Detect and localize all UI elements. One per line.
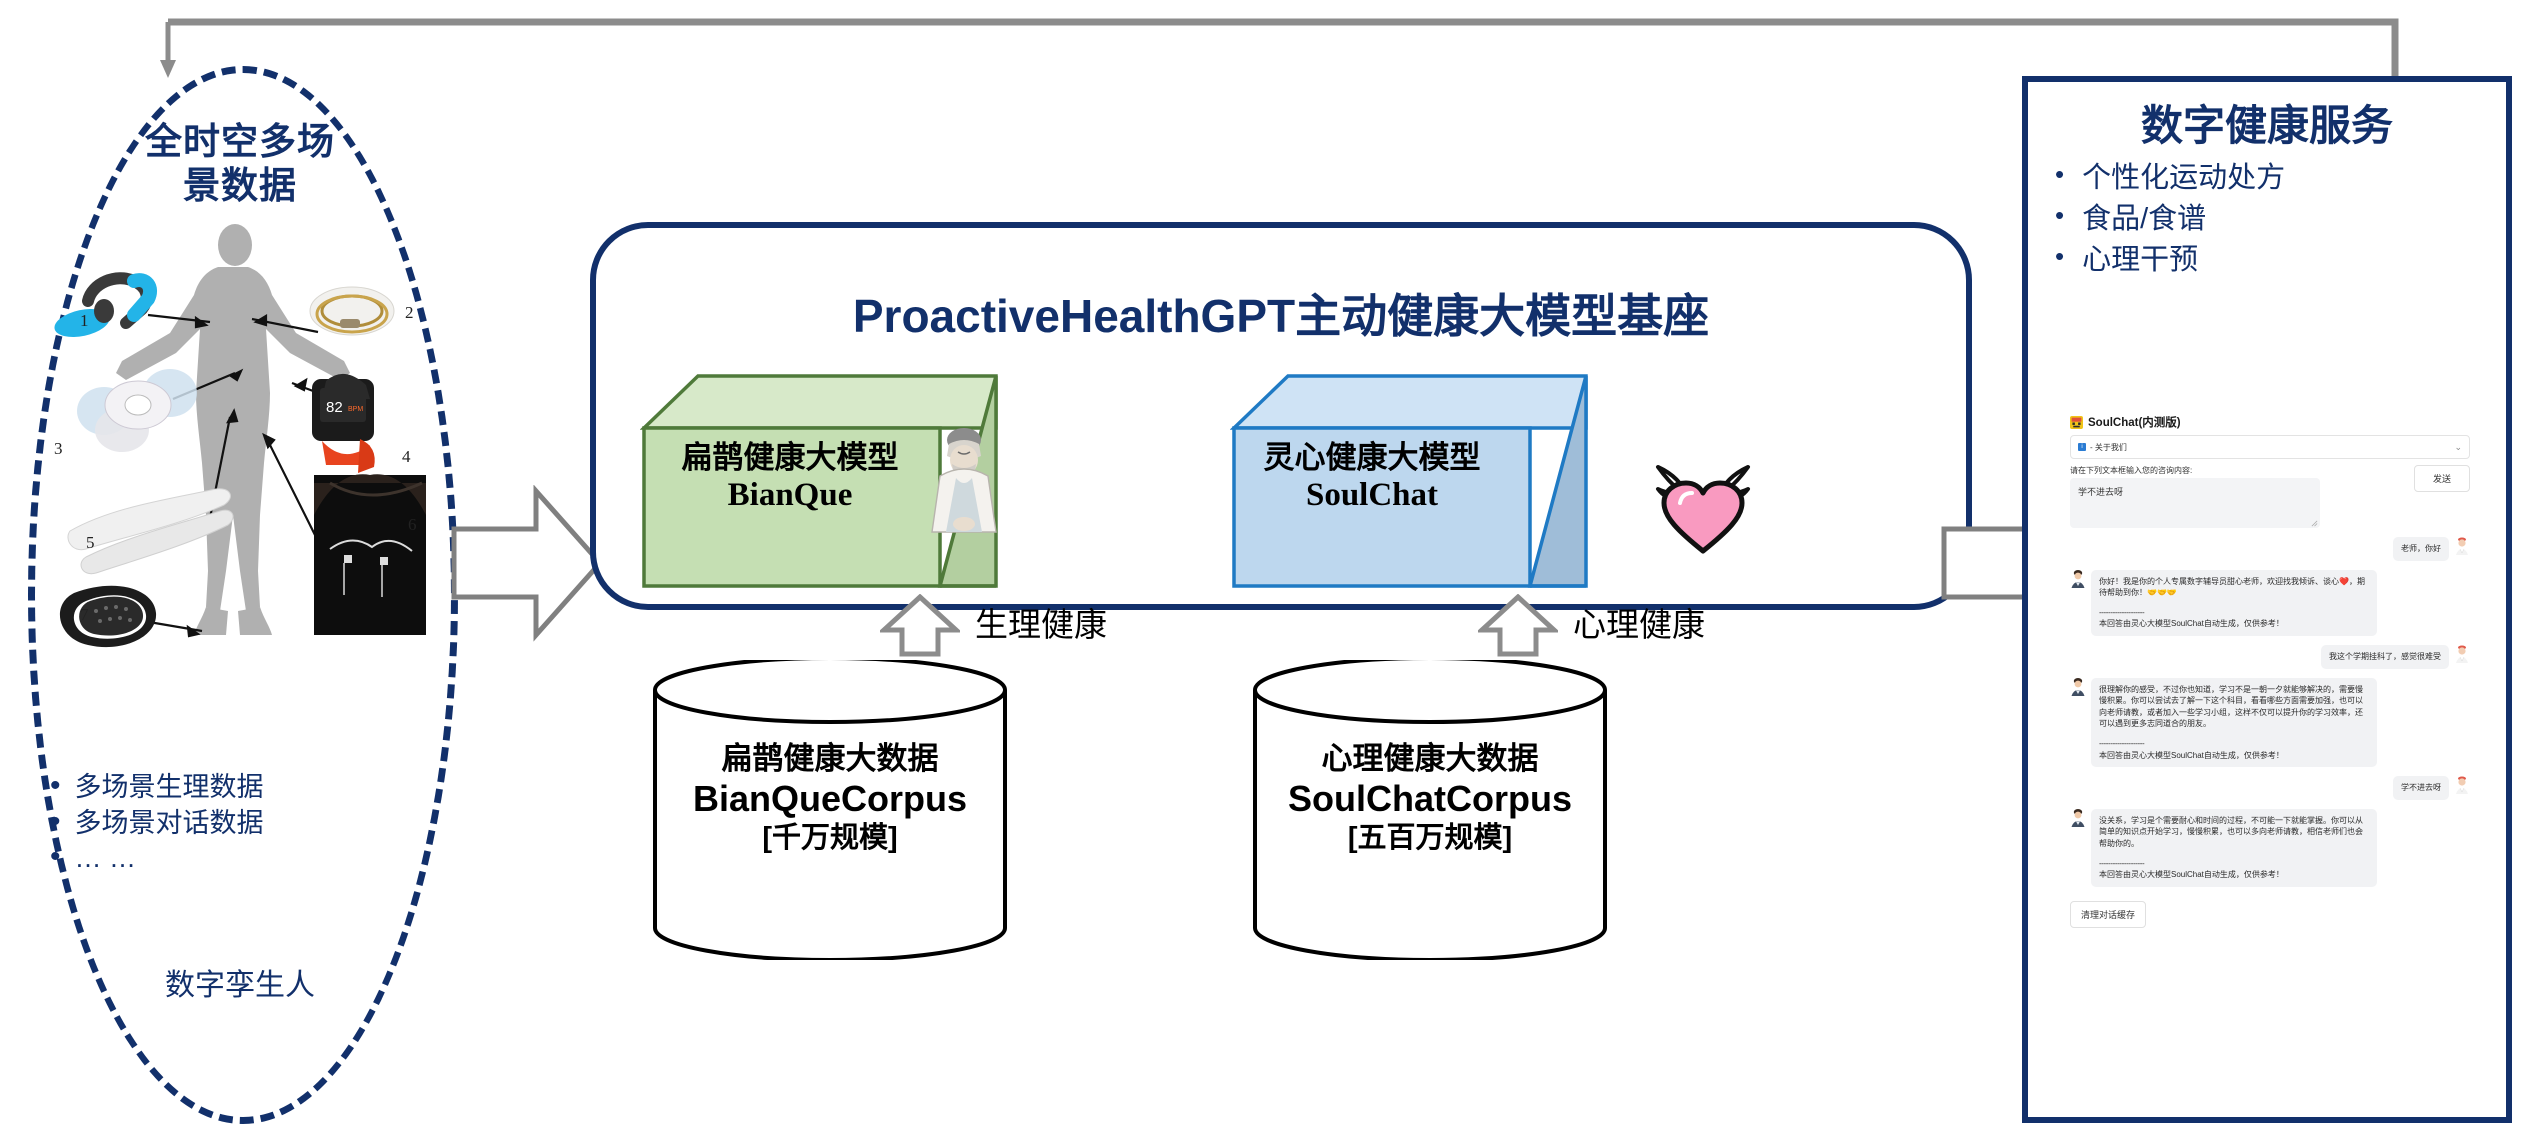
user-avatar-icon: [2454, 645, 2470, 663]
chat-bubble-text: 没关系，学习是个需要耐心和时间的过程，不可能一下就能掌握。你可以从简单的知识点开…: [2099, 815, 2369, 850]
left-title-line2: 景数据: [40, 164, 440, 208]
counselor-avatar-icon: [2070, 809, 2086, 827]
chat-bubble-note: 本回答由灵心大模型SoulChat自动生成，仅供参考！: [2099, 618, 2369, 630]
physiological-health-label: 生理健康: [975, 598, 1107, 646]
bianque-corpus-line2: BianQueCorpus: [650, 777, 1010, 820]
chat-prompt-label: 请在下列文本框输入您的咨询内容:: [2070, 465, 2320, 476]
bullet-dot: •: [2055, 240, 2064, 273]
chat-input-textarea[interactable]: 学不进去呀: [2070, 478, 2320, 528]
list-item: •… …: [50, 841, 440, 877]
right-bullet-2: 心理干预: [2082, 240, 2198, 281]
mental-health-label: 心理健康: [1573, 598, 1705, 646]
select-value: - 关于我们: [2090, 442, 2127, 453]
device-number-6: 6: [408, 515, 417, 535]
chat-app-header: SoulChat(内测版): [2070, 412, 2470, 435]
resize-handle-icon[interactable]: [2311, 520, 2318, 527]
chat-message-bot: 没关系，学习是个需要耐心和时间的过程，不可能一下就能掌握。你可以从简单的知识点开…: [2070, 809, 2470, 887]
bianque-corpus-line3: [千万规模]: [650, 820, 1010, 858]
device-number-3: 3: [54, 439, 63, 459]
bianque-corpus-label: 扁鹊健康大数据 BianQueCorpus [千万规模]: [650, 740, 1010, 858]
left-bullet-1: 多场景对话数据: [75, 806, 264, 842]
chat-bubble-text: 很理解你的感受，不过你也知道，学习不是一朝一夕就能够解决的，需要慢慢积累。你可以…: [2099, 684, 2369, 730]
chat-bubble: 没关系，学习是个需要耐心和时间的过程，不可能一下就能掌握。你可以从简单的知识点开…: [2091, 809, 2377, 887]
right-bullet-0: 个性化运动处方: [2082, 158, 2285, 199]
left-bullet-2: … …: [75, 841, 137, 877]
bianque-corpus-line1: 扁鹊健康大数据: [650, 740, 1010, 777]
list-item: •食品/食谱: [2055, 199, 2505, 240]
chat-input-row: 请在下列文本框输入您的咨询内容: 学不进去呀 发送: [2070, 465, 2470, 528]
chat-bubble-text: 你好！我是你的个人专属数字辅导员甜心老师，欢迎找我倾诉、谈心❤️，期待帮助到你！…: [2099, 576, 2369, 599]
robot-avatar-icon: [2070, 416, 2083, 429]
device-number-1: 1: [80, 311, 89, 331]
info-icon: i: [2078, 443, 2086, 451]
chat-input-value: 学不进去呀: [2078, 487, 2123, 497]
clear-cache-button[interactable]: 清理对话缓存: [2070, 901, 2146, 928]
user-avatar-icon: [2454, 776, 2470, 794]
digital-twin-label: 数字孪生人: [40, 960, 440, 1004]
device-number-4: 4: [402, 447, 411, 467]
chat-divider: --------------------: [2099, 607, 2369, 619]
chat-message-user: 老师，你好: [2070, 537, 2470, 561]
bullet-dot: •: [2055, 158, 2064, 191]
soulchat-corpus-line2: SoulChatCorpus: [1250, 777, 1610, 820]
send-button[interactable]: 发送: [2414, 465, 2470, 492]
soulchat-en-label: SoulChat: [1222, 476, 1522, 516]
list-item: •多场景生理数据: [50, 770, 440, 806]
bianque-model-label: 扁鹊健康大模型 BianQue: [640, 440, 940, 515]
page-title: ProactiveHealthGPT主动健康大模型基座: [590, 280, 1972, 346]
soulchat-app-screenshot[interactable]: SoulChat(内测版) i - 关于我们 ⌄ 请在下列文本框输入您的咨询内容…: [2070, 412, 2470, 1112]
left-panel-title: 全时空多场 景数据: [40, 120, 440, 207]
chat-app-title: SoulChat(内测版): [2088, 414, 2181, 430]
counselor-avatar-icon: [2070, 570, 2086, 588]
device-number-2: 2: [405, 303, 414, 323]
device-number-5: 5: [86, 533, 95, 553]
soulchat-cn-label: 灵心健康大模型: [1222, 440, 1522, 476]
chat-message-bot: 很理解你的感受，不过你也知道，学习不是一朝一夕就能够解决的，需要慢慢积累。你可以…: [2070, 678, 2470, 768]
winged-heart-icon: [1648, 455, 1758, 565]
device-number-7: 7: [80, 605, 89, 625]
soulchat-corpus-line1: 心理健康大数据: [1250, 740, 1610, 777]
mental-health-arrow: [1478, 594, 1558, 658]
right-panel-title: 数字健康服务: [2030, 92, 2504, 153]
soulchat-model-label: 灵心健康大模型 SoulChat: [1222, 440, 1522, 515]
left-title-line1: 全时空多场: [40, 120, 440, 164]
left-bullet-list: •多场景生理数据 •多场景对话数据 •… …: [50, 770, 440, 877]
chat-bubble-note: 本回答由灵心大模型SoulChat自动生成，仅供参考！: [2099, 750, 2369, 762]
left-bullet-0: 多场景生理数据: [75, 770, 264, 806]
chat-bubble: 很理解你的感受，不过你也知道，学习不是一朝一夕就能够解决的，需要慢慢积累。你可以…: [2091, 678, 2377, 768]
bullet-dot: •: [2055, 199, 2064, 232]
chat-bubble: 我这个学期挂科了，感觉很难受: [2321, 645, 2449, 669]
chat-divider: --------------------: [2099, 738, 2369, 750]
bianque-en-label: BianQue: [640, 476, 940, 516]
device-number-labels: 1 2 3 4 5 6 7: [30, 215, 450, 685]
chat-bubble: 你好！我是你的个人专属数字辅导员甜心老师，欢迎找我倾诉、谈心❤️，期待帮助到你！…: [2091, 570, 2377, 636]
bullet-dot: •: [50, 841, 61, 873]
chat-bubble: 学不进去呀: [2393, 776, 2449, 800]
about-us-select[interactable]: i - 关于我们 ⌄: [2070, 435, 2470, 459]
chat-message-user: 我这个学期挂科了，感觉很难受: [2070, 645, 2470, 669]
doctor-icon: [918, 420, 1010, 538]
chat-bubble: 老师，你好: [2393, 537, 2449, 561]
bullet-dot: •: [50, 806, 61, 838]
soulchat-corpus-label: 心理健康大数据 SoulChatCorpus [五百万规模]: [1250, 740, 1610, 858]
physiological-health-arrow: [880, 594, 960, 658]
chevron-down-icon[interactable]: ⌄: [2454, 442, 2462, 453]
list-item: •多场景对话数据: [50, 806, 440, 842]
chat-divider: --------------------: [2099, 858, 2369, 870]
right-bullet-list: •个性化运动处方 •食品/食谱 •心理干预: [2055, 158, 2505, 282]
user-avatar-icon: [2454, 537, 2470, 555]
flow-arrow-left: [450, 485, 610, 645]
bullet-dot: •: [50, 770, 61, 802]
chat-bubble-note: 本回答由灵心大模型SoulChat自动生成，仅供参考！: [2099, 869, 2369, 881]
soulchat-corpus-line3: [五百万规模]: [1250, 820, 1610, 858]
list-item: •心理干预: [2055, 240, 2505, 281]
bianque-cn-label: 扁鹊健康大模型: [640, 440, 940, 476]
chat-message-user: 学不进去呀: [2070, 776, 2470, 800]
counselor-avatar-icon: [2070, 678, 2086, 696]
list-item: •个性化运动处方: [2055, 158, 2505, 199]
right-bullet-1: 食品/食谱: [2082, 199, 2206, 240]
chat-message-bot: 你好！我是你的个人专属数字辅导员甜心老师，欢迎找我倾诉、谈心❤️，期待帮助到你！…: [2070, 570, 2470, 636]
